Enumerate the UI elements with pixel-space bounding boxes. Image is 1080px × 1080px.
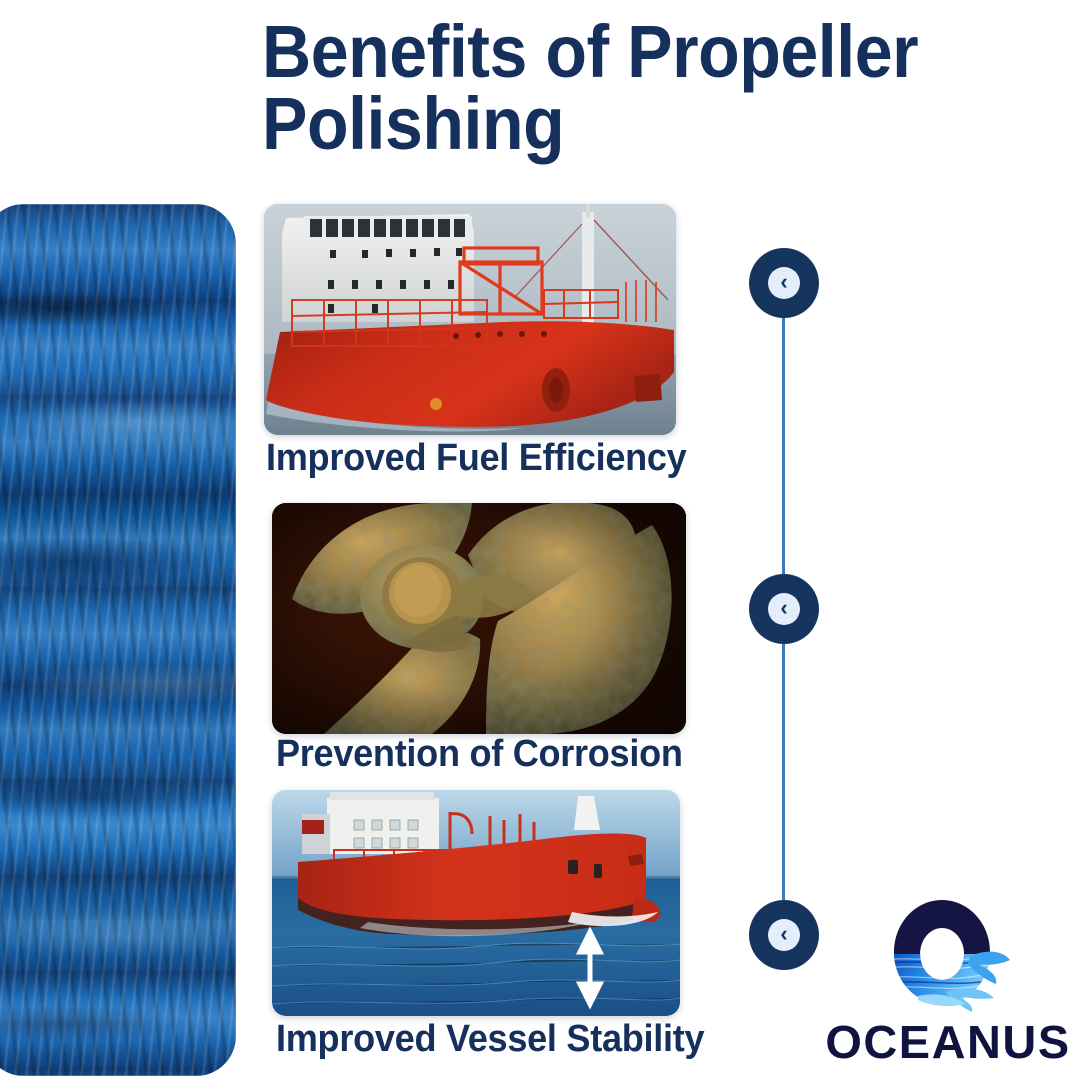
timeline-connector-1 [782, 316, 785, 576]
ocean-water-photo [0, 204, 236, 1076]
logo-wordmark: OCEANUS [824, 1015, 1073, 1069]
benefit-caption-3: Improved Vessel Stability [276, 1018, 704, 1061]
brand-logo: OCEANUS [826, 898, 1070, 1070]
benefit-caption-2: Prevention of Corrosion [276, 733, 683, 776]
propeller-image [272, 503, 686, 734]
nav-button-3[interactable]: ‹ [749, 900, 819, 970]
tanker-at-sea-image [272, 790, 680, 1016]
chevron-left-icon: ‹ [768, 919, 800, 951]
page-title: Benefits of Propeller Polishing [262, 16, 998, 160]
tanker-bow-image [264, 204, 676, 435]
nav-button-2[interactable]: ‹ [749, 574, 819, 644]
chevron-left-icon: ‹ [768, 267, 800, 299]
benefit-image-2 [272, 503, 686, 734]
infographic-canvas: Benefits of Propeller Polishing [0, 0, 1080, 1080]
benefit-caption-1: Improved Fuel Efficiency [266, 437, 686, 480]
timeline-connector-2 [782, 643, 785, 902]
nav-button-1[interactable]: ‹ [749, 248, 819, 318]
benefit-image-3 [272, 790, 680, 1016]
ocean-water-image [0, 204, 236, 1076]
benefit-image-1 [264, 204, 676, 435]
chevron-left-icon: ‹ [768, 593, 800, 625]
oceanus-wave-ring-logo [874, 898, 1010, 1016]
